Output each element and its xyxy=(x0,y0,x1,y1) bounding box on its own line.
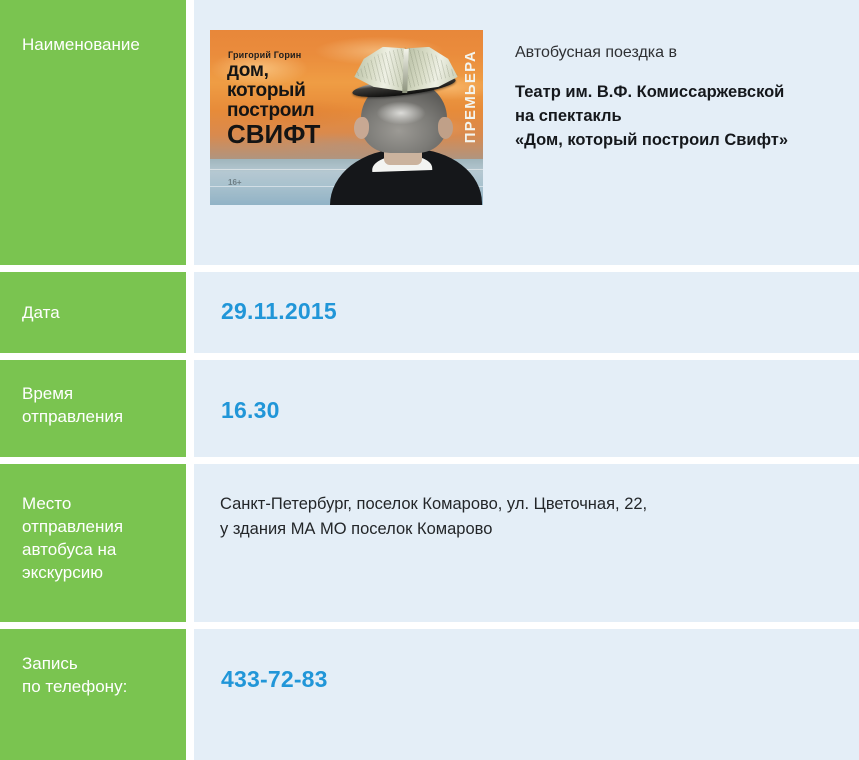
place-value: Санкт-Петербург, поселок Комарово, ул. Ц… xyxy=(220,492,647,542)
row-value-cell-name: Григорий Горин дом, который построил СВИ… xyxy=(194,0,859,265)
row-label-cell-time: Время отправления xyxy=(0,360,186,457)
poster-age-rating: 16+ xyxy=(228,178,242,187)
row-value-cell-date: 29.11.2015 xyxy=(194,272,859,353)
figure-hair-highlight xyxy=(372,99,430,127)
time-value: 16.30 xyxy=(221,397,280,424)
table-row-phone: Запись по телефону: 433-72-83 xyxy=(0,629,859,760)
poster-premiere-badge: ПРЕМЬЕРА xyxy=(462,50,479,143)
excursion-info-table: Наименование xyxy=(0,0,859,760)
row-label-cell-date: Дата xyxy=(0,272,186,353)
poster-artwork: Григорий Горин дом, который построил СВИ… xyxy=(210,30,483,205)
open-book-icon xyxy=(354,45,458,93)
table-row-date: Дата 29.11.2015 xyxy=(0,272,859,353)
poster-title-line1: дом, xyxy=(227,60,269,81)
table-row-time: Время отправления 16.30 xyxy=(0,360,859,457)
trip-venue-text: Театр им. В.Ф. Комиссаржевской на спекта… xyxy=(515,80,845,152)
figure-ear-left xyxy=(354,117,369,139)
table-row-name: Наименование xyxy=(0,0,859,265)
row-value-cell-time: 16.30 xyxy=(194,360,859,457)
trip-description: Автобусная поездка в Театр им. В.Ф. Коми… xyxy=(515,42,845,152)
trip-lead-text: Автобусная поездка в xyxy=(515,42,845,64)
poster-title: дом, который построил СВИФТ xyxy=(227,61,320,148)
row-label-cell-place: Место отправления автобуса на экскурсию xyxy=(0,464,186,622)
figure-ear-right xyxy=(438,117,453,139)
poster-title-line2: который xyxy=(227,80,305,101)
date-value: 29.11.2015 xyxy=(221,298,337,325)
row-label-cell-phone: Запись по телефону: xyxy=(0,629,186,760)
row-label-cell-name: Наименование xyxy=(0,0,186,265)
row-label-time: Время отправления xyxy=(22,382,123,428)
poster-author: Григорий Горин xyxy=(228,50,301,60)
row-value-cell-phone: 433-72-83 xyxy=(194,629,859,760)
poster-title-line3: построил xyxy=(227,100,314,121)
table-row-place: Место отправления автобуса на экскурсию … xyxy=(0,464,859,622)
poster-title-big: СВИФТ xyxy=(227,121,320,148)
poster-figure-icon xyxy=(328,50,483,205)
phone-value[interactable]: 433-72-83 xyxy=(221,666,328,693)
row-label-name: Наименование xyxy=(22,33,140,56)
row-value-cell-place: Санкт-Петербург, поселок Комарово, ул. Ц… xyxy=(194,464,859,622)
play-poster: Григорий Горин дом, который построил СВИ… xyxy=(210,30,483,205)
row-label-date: Дата xyxy=(22,301,60,324)
row-label-phone: Запись по телефону: xyxy=(22,652,127,698)
row-label-place: Место отправления автобуса на экскурсию xyxy=(22,492,123,584)
